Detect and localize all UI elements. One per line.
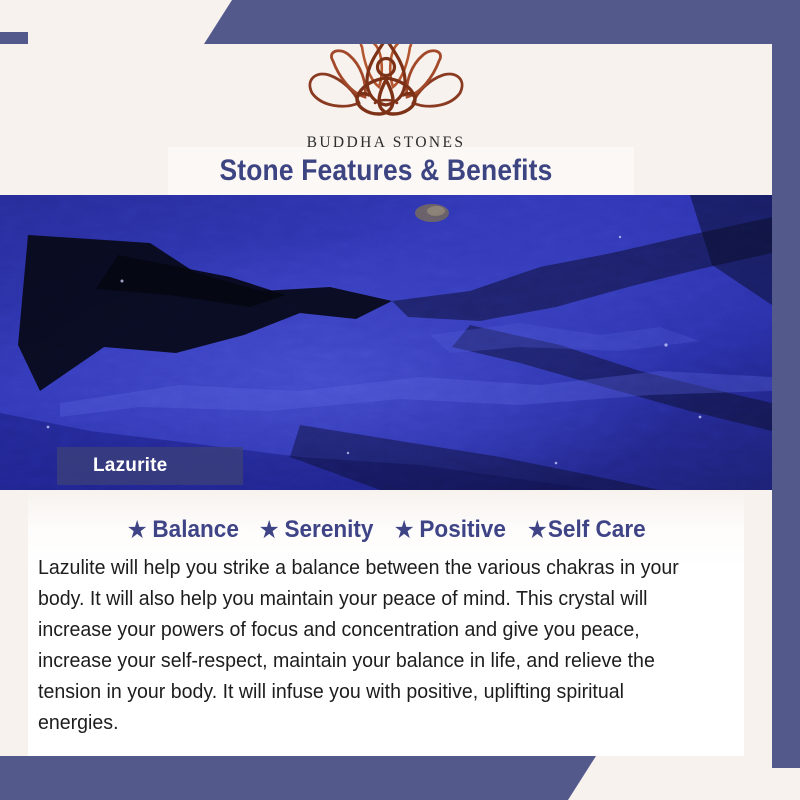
benefit-item: ★ Self Care: [527, 516, 646, 544]
lotus-meditation-figure-icon: [295, 44, 477, 132]
benefit-label: Positive: [420, 516, 507, 544]
benefit-item: ★ Serenity: [259, 516, 374, 544]
page-title: Stone Features & Benefits: [46, 147, 725, 195]
benefits-row: ★ Balance ★ Serenity ★ Positive ★ Self C…: [28, 490, 744, 544]
poster: BUDDHA STONES Stone Features & Benefits: [0, 0, 800, 800]
star-icon: ★: [126, 518, 147, 543]
benefit-item: ★ Balance: [126, 516, 238, 544]
star-icon: ★: [527, 518, 548, 543]
content-panel: ★ Balance ★ Serenity ★ Positive ★ Self C…: [28, 490, 744, 756]
star-icon: ★: [394, 518, 415, 543]
star-icon: ★: [259, 518, 280, 543]
frame-bottom-bar: [0, 756, 800, 800]
stone-name: Lazurite: [93, 455, 167, 477]
benefit-item: ★ Positive: [394, 516, 506, 544]
benefit-label: Balance: [152, 516, 239, 544]
brand-logo: BUDDHA STONES: [0, 44, 772, 147]
lazurite-stone-photo: Lazurite: [0, 195, 772, 490]
description-paragraph: Lazulite will help you strike a balance …: [38, 553, 710, 739]
frame-top-bar: [0, 0, 800, 44]
stone-label-badge: Lazurite: [57, 447, 243, 485]
page-content: BUDDHA STONES Stone Features & Benefits: [0, 44, 772, 756]
benefit-label: Self Care: [548, 516, 646, 544]
benefit-label: Serenity: [285, 516, 374, 544]
frame-right-bar: [772, 0, 800, 768]
